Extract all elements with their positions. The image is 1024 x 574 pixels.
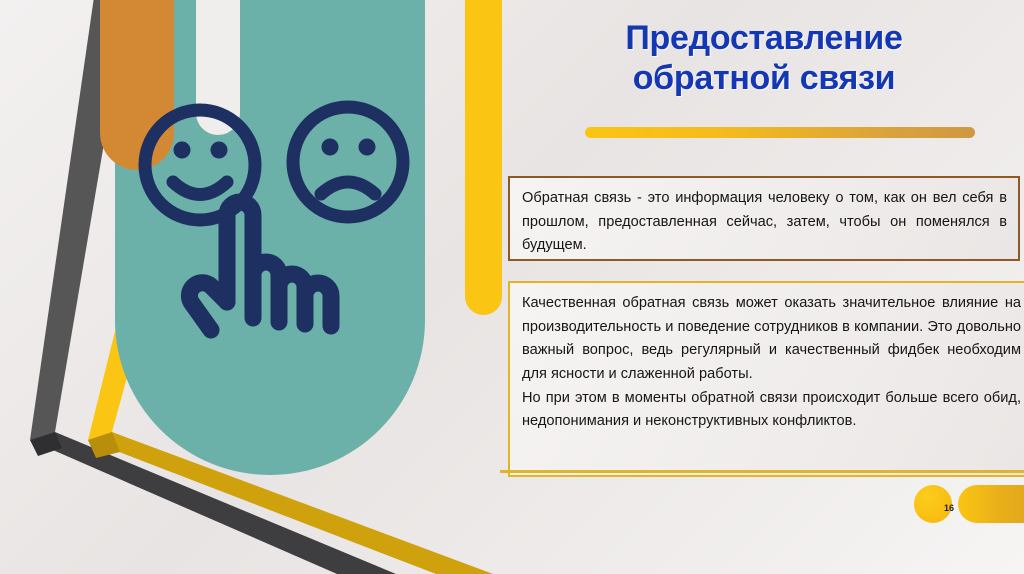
definition-paragraph: Обратная связь - это информация человеку…: [522, 187, 1007, 258]
page-marker-bar: [958, 485, 1024, 523]
title-line-2: обратной связи: [633, 59, 896, 97]
yellow-pill-shape: [465, 0, 502, 315]
impact-paragraph-1: Качественная обратная связь может оказат…: [522, 292, 1021, 387]
footer-divider-rule: [500, 470, 1024, 473]
impact-paragraph-2: Но при этом в моменты обратной связи про…: [522, 387, 1021, 434]
title-line-1: Предоставление: [625, 19, 902, 57]
impact-textbox: Качественная обратная связь может оказат…: [508, 281, 1024, 477]
page-number: 16: [944, 503, 954, 513]
sad-face-icon: [293, 107, 403, 217]
definition-textbox: Обратная связь - это информация человеку…: [508, 176, 1020, 261]
title-block: Предоставление обратной связи: [508, 18, 1020, 98]
page-title: Предоставление обратной связи: [508, 18, 1020, 98]
title-underline-bar: [585, 127, 975, 138]
content-column: Предоставление обратной связи Обратная с…: [500, 0, 1024, 574]
feedback-illustration: [115, 90, 425, 420]
slide-canvas: Предоставление обратной связи Обратная с…: [0, 0, 1024, 574]
